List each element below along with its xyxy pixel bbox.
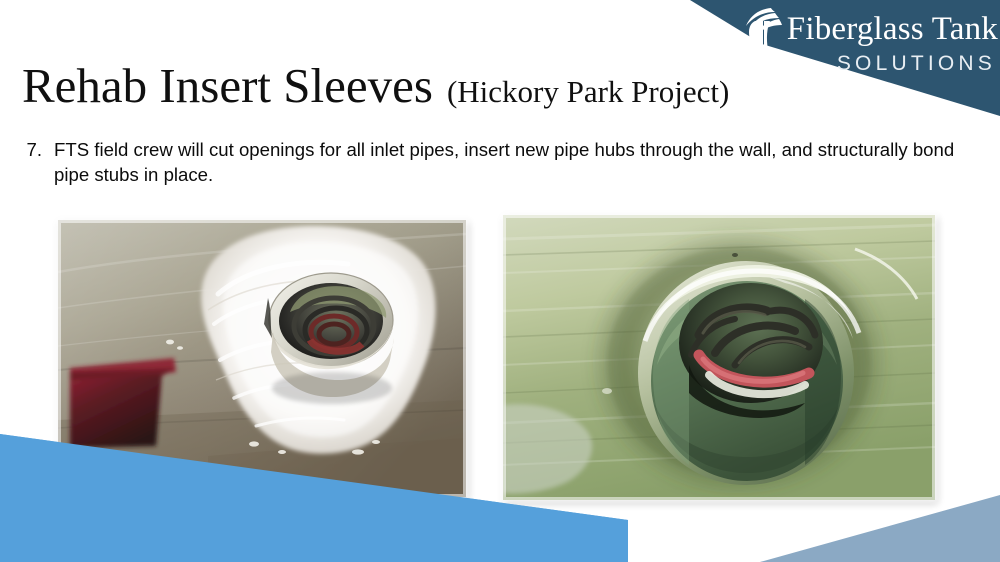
logo-wordmark: Fiberglass Tank <box>787 13 998 46</box>
list-item: 7. FTS field crew will cut openings for … <box>12 138 972 187</box>
fiberglass-tank-swoosh-icon <box>741 6 785 52</box>
slide-canvas: Fiberglass Tank SOLUTIONS Rehab Insert S… <box>0 0 1000 562</box>
body-list: 7. FTS field crew will cut openings for … <box>12 138 972 187</box>
page-title-main: Rehab Insert Sleeves <box>22 57 433 114</box>
list-item-number: 7. <box>12 138 54 163</box>
list-item-text: FTS field crew will cut openings for all… <box>54 138 972 187</box>
page-title-subtitle: (Hickory Park Project) <box>447 74 729 110</box>
steel-blue-diagonal-triangle <box>760 495 1000 562</box>
company-logo: Fiberglass Tank SOLUTIONS <box>741 6 998 74</box>
photo-green-pipe-hub-opening <box>503 215 935 500</box>
page-title: Rehab Insert Sleeves (Hickory Park Proje… <box>22 57 729 114</box>
logo-row: Fiberglass Tank <box>741 6 998 52</box>
photo-pipe-stub-white-patch <box>58 220 466 497</box>
logo-subword: SOLUTIONS <box>837 53 996 74</box>
